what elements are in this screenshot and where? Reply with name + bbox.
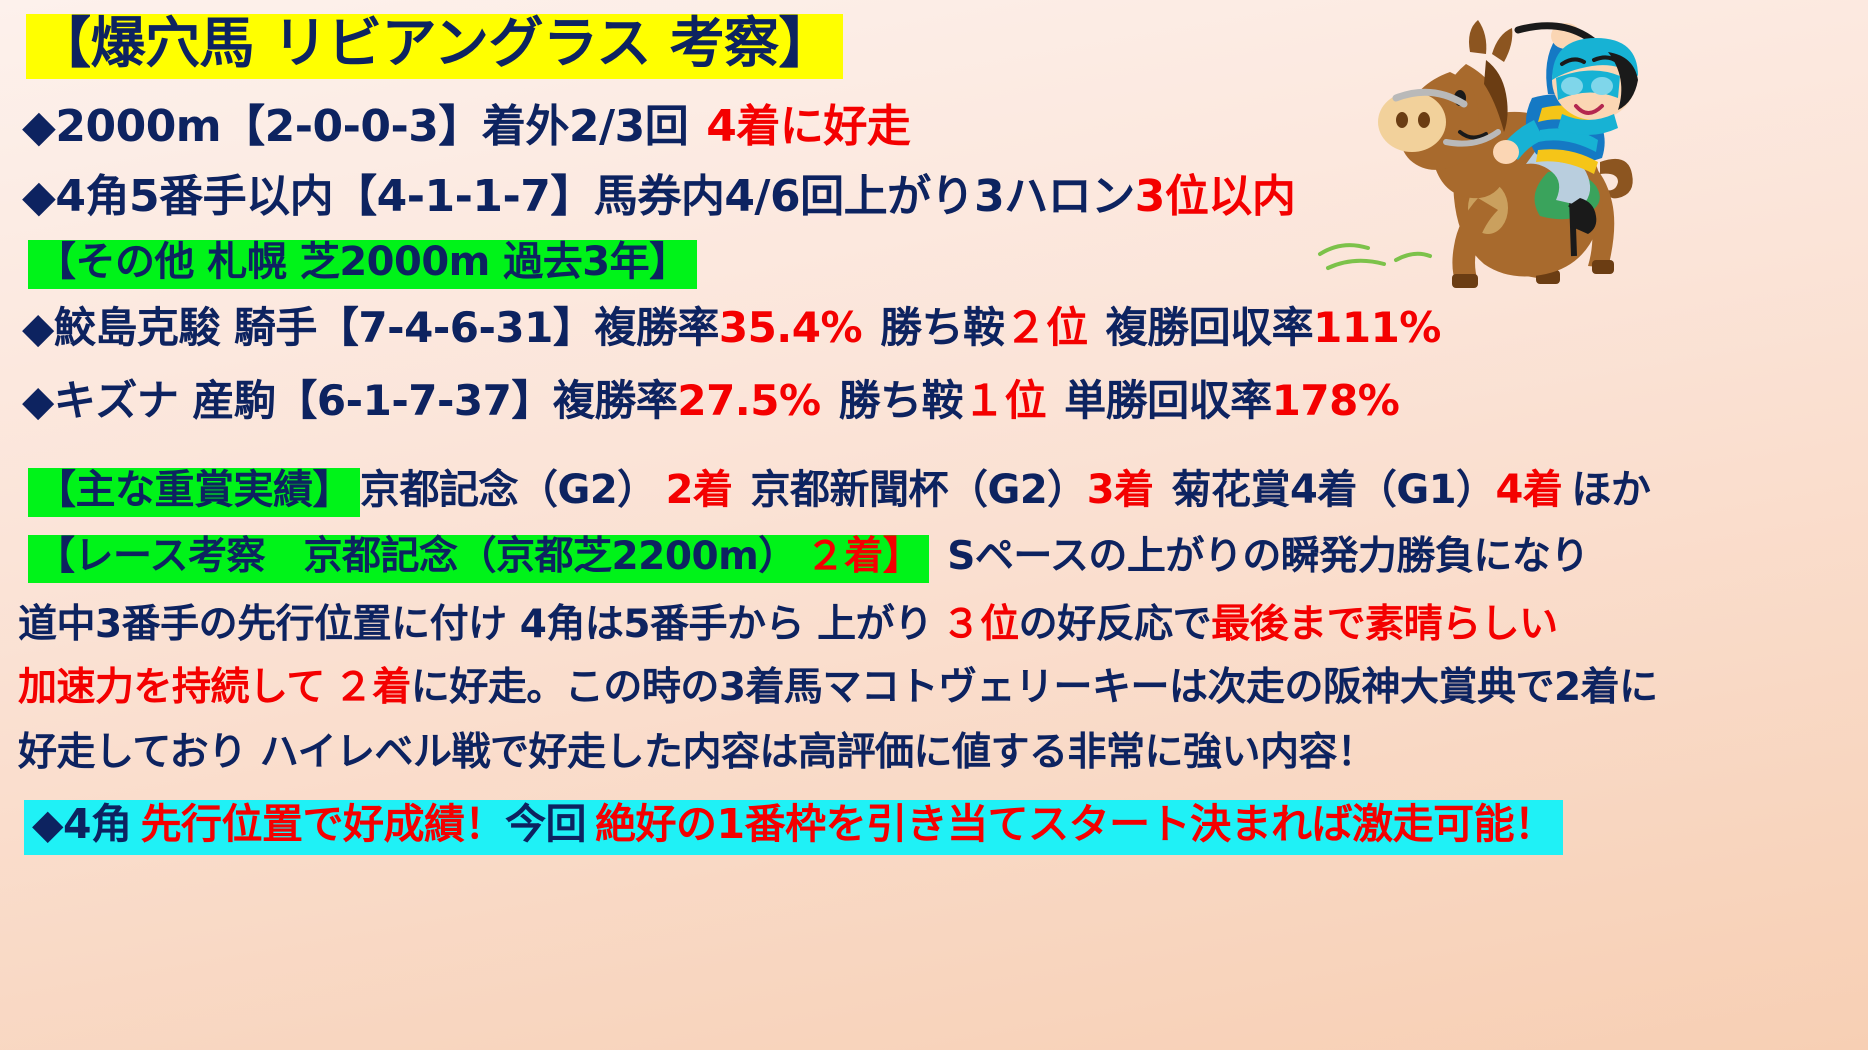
section-band-other-stats: 【その他 札幌 芝2000m 過去3年】	[28, 240, 697, 289]
graded-result-1: 2着	[666, 467, 733, 513]
conclusion-text-b: 今回	[505, 800, 586, 848]
conclusion-highlight-1: 先行位置で好成績！	[141, 800, 506, 848]
body1-rank: ３位	[942, 602, 1019, 647]
sire-wins-rank: １位	[963, 376, 1046, 425]
jockey-wins-label: 勝ち鞍	[880, 303, 1005, 352]
sire-place-rate: 27.5%	[677, 376, 820, 425]
band-graded-label: 【主な重賞実績】	[28, 468, 360, 517]
graded-result-3: 4着	[1496, 467, 1563, 513]
conclusion-text-a: 4角	[63, 800, 132, 848]
conclusion-highlight-2: 絶好の1番枠を引き当てスタート決まれば激走可能！	[595, 800, 1555, 848]
horse-nostril	[1396, 112, 1408, 128]
review-band-text: 【レース考察 京都記念（京都芝2200m）	[36, 534, 797, 579]
row-race-review: 【レース考察 京都記念（京都芝2200m）２着】Sペースの上がりの瞬発力勝負にな…	[28, 535, 1589, 583]
graded-race-2: 京都新聞杯（G2）	[751, 467, 1087, 513]
distance-record-text: 2000m【2-0-0-3】着外2/3回	[55, 101, 688, 152]
jockey-on-horse-illustration	[1300, 2, 1730, 292]
slide-canvas: 【爆穴馬 リビアングラス 考察】 ◆2000m【2-0-0-3】着外2/3回4着…	[0, 0, 1868, 1050]
row-jockey-stats: ◆鮫島克駿 騎手【7-4-6-31】複勝率35.4%勝ち鞍２位複勝回収率111%	[22, 307, 1441, 349]
sire-roi-label: 単勝回収率	[1064, 376, 1272, 425]
jockey-hand	[1493, 140, 1519, 164]
corner-position-highlight: 3位以内	[1135, 171, 1296, 222]
review-tail-text: Sペースの上がりの瞬発力勝負になり	[947, 534, 1589, 579]
band-other-label: 【その他 札幌 芝2000m 過去3年】	[28, 240, 697, 289]
band-review-label: 【レース考察 京都記念（京都芝2200m）２着】	[28, 535, 929, 583]
graded-race-1: 京都記念（G2）	[360, 467, 657, 513]
horse-muzzle	[1378, 92, 1446, 152]
body-line-1: 道中3番手の先行位置に付け 4角は5番手から 上がり３位の好反応で最後まで素晴ら…	[18, 605, 1558, 644]
jockey-record-text: 鮫島克駿 騎手【7-4-6-31】複勝率	[54, 303, 719, 352]
bullet-diamond-icon: ◆	[22, 171, 55, 222]
horse-ear-left	[1469, 20, 1486, 54]
body2-highlight-a: 加速力を持続して	[18, 665, 325, 710]
row-sire-stats: ◆キズナ 産駒【6-1-7-37】複勝率27.5%勝ち鞍１位単勝回収率178%	[22, 380, 1399, 422]
graded-result-2: 3着	[1087, 467, 1154, 513]
body-line-2: 加速力を持続して２着に好走。この時の3着馬マコトヴェリーキーは次走の阪神大賞典で…	[18, 668, 1658, 707]
body1-highlight: 最後まで素晴らしい	[1211, 602, 1558, 647]
row-corner-position: ◆4角5番手以内【4-1-1-7】馬券内4/6回上がり3ハロン3位以内	[22, 175, 1295, 219]
sire-roi-value: 178%	[1272, 376, 1400, 425]
goggle-lens	[1561, 77, 1583, 95]
bullet-diamond-icon: ◆	[22, 376, 54, 425]
distance-record-highlight: 4着に好走	[706, 101, 910, 152]
graded-suffix: ほか	[1571, 467, 1650, 513]
horse-hoof	[1452, 274, 1478, 288]
jockey-roi-label: 複勝回収率	[1106, 303, 1314, 352]
row-conclusion: ◆4角先行位置で好成績！今回絶好の1番枠を引き当てスタート決まれば激走可能！	[24, 800, 1563, 855]
body2-finish: ２着	[334, 665, 411, 710]
goggle-lens	[1591, 77, 1613, 95]
horse-nostril	[1418, 112, 1430, 128]
body3-text: 好走しており ハイレベル戦で好走した内容は高評価に値する非常に強い内容！	[18, 730, 1375, 775]
title-highlight: 【爆穴馬 リビアングラス 考察】	[26, 14, 843, 79]
graded-race-3: 菊花賞4着（G1）	[1172, 467, 1496, 513]
corner-position-text: 4角5番手以内【4-1-1-7】馬券内4/6回上がり3ハロン	[55, 171, 1134, 222]
body2-part-b: に好走。この時の3着馬マコトヴェリーキーは次走の阪神大賞典で2着に	[411, 665, 1658, 710]
jockey-wins-rank: ２位	[1005, 303, 1088, 352]
bullet-diamond-icon: ◆	[22, 101, 55, 152]
horse-hoof	[1592, 260, 1614, 274]
jockey-place-rate: 35.4%	[719, 303, 862, 352]
sire-wins-label: 勝ち鞍	[839, 376, 964, 425]
bullet-diamond-icon: ◆	[32, 800, 63, 848]
bullet-diamond-icon: ◆	[22, 303, 54, 352]
grass-icon	[1320, 245, 1430, 268]
page-title: 【爆穴馬 リビアングラス 考察】	[26, 14, 843, 79]
body1-part-a: 道中3番手の先行位置に付け 4角は5番手から 上がり	[18, 602, 933, 647]
jockey-roi-value: 111%	[1313, 303, 1441, 352]
sire-record-text: キズナ 産駒【6-1-7-37】複勝率	[54, 376, 678, 425]
body-line-3: 好走しており ハイレベル戦で好走した内容は高評価に値する非常に強い内容！	[18, 733, 1375, 772]
row-graded-results: 【主な重賞実績】京都記念（G2）2着京都新聞杯（G2）3着菊花賞4着（G1）4着…	[28, 468, 1650, 517]
body1-part-b: の好反応で	[1019, 602, 1212, 647]
horse-ear-right	[1492, 28, 1512, 62]
row-distance-record: ◆2000m【2-0-0-3】着外2/3回4着に好走	[22, 105, 910, 149]
review-band-result: ２着】	[806, 534, 922, 579]
conclusion-highlight: ◆4角先行位置で好成績！今回絶好の1番枠を引き当てスタート決まれば激走可能！	[24, 800, 1563, 855]
